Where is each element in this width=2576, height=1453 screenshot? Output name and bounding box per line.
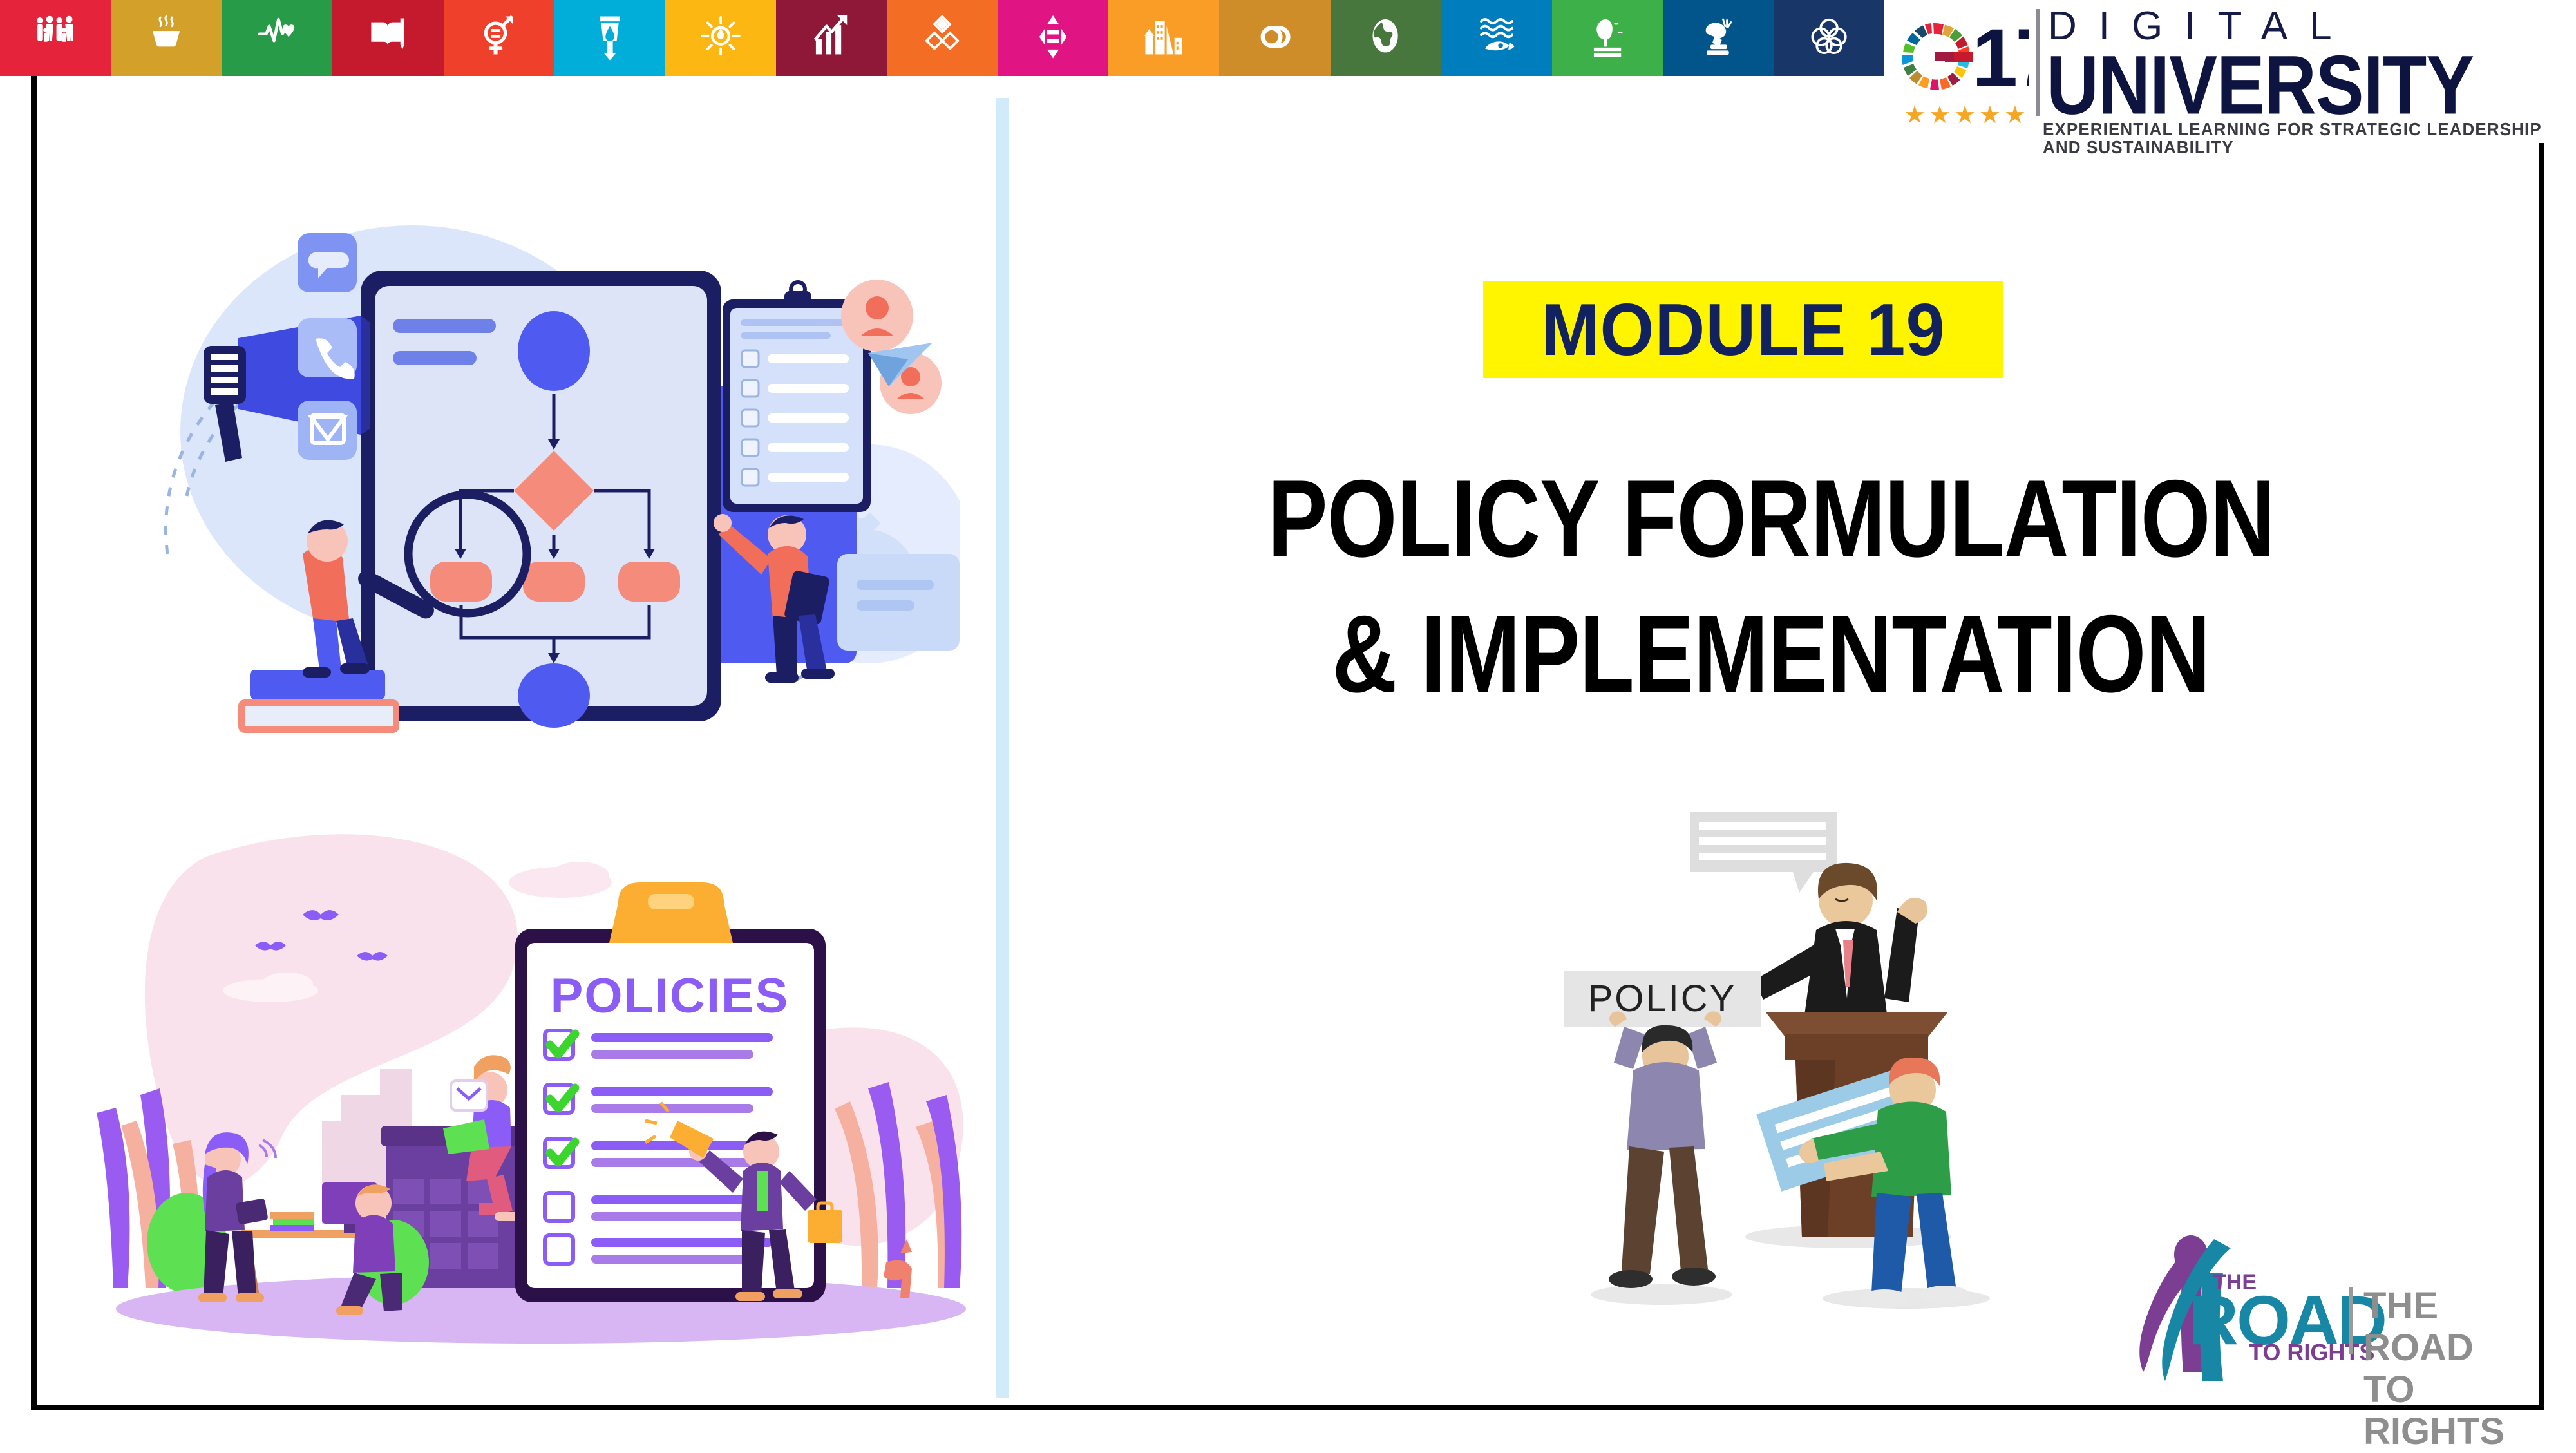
brand-name-university: UNIVERSITY: [2047, 44, 2474, 128]
partnership-circles-icon: [1794, 14, 1864, 62]
sdg-wheel-17-icon: 17: [1900, 5, 2029, 108]
logo-divider: [2036, 9, 2040, 116]
road-to-rights-logo: THE ROAD TO RIGHTS THE ROAD TO RIGHTS: [2106, 1224, 2524, 1385]
star-icon: ★: [1929, 103, 1951, 128]
five-stars-rating: ★ ★ ★ ★ ★: [1904, 103, 2026, 128]
policies-checklist-illustration: POLICIES: [90, 818, 985, 1353]
sdg-goal-14: [1441, 0, 1552, 76]
sdg-goal-1: [0, 0, 111, 76]
module-badge-label: MODULE 19: [1541, 293, 1945, 366]
cubes-industry-icon: [907, 14, 978, 62]
water-glass-arrow-icon: [574, 14, 645, 62]
module-badge: MODULE 19: [1483, 281, 2003, 378]
steaming-bowl-icon: [131, 14, 202, 62]
rtr-to-rights-label: TO RIGHTS: [2249, 1341, 2374, 1364]
dove-gavel-icon: [1683, 14, 1754, 62]
page-title-line-1: POLICY FORMULATION: [1005, 464, 2537, 574]
sdg-goal-15: [1552, 0, 1663, 76]
sdg-goal-7: [665, 0, 776, 76]
sdg-goal-6: [554, 0, 665, 76]
brand-tagline: EXPERIENTIAL LEARNING FOR STRATEGIC LEAD…: [2043, 120, 2575, 156]
policy-flowchart-illustration: [109, 193, 960, 760]
svg-text:17: 17: [1972, 12, 2029, 104]
sdg-goal-13: [1331, 0, 1441, 76]
digital-university-logo: 17 ★ ★ ★ ★ ★ DIGITAL UNIVERSITY EXPERIEN…: [1893, 1, 2575, 138]
equality-arrows-icon: [1018, 14, 1088, 62]
sdg-goal-10: [998, 0, 1108, 76]
policy-speaker-illustration: POLICY: [1533, 786, 2009, 1340]
sdg-goal-8: [776, 0, 887, 76]
rtr-wordmark-line1: THE ROAD: [2363, 1286, 2524, 1369]
svg-text:POLICIES: POLICIES: [551, 969, 790, 1023]
sdg-goal-3: [222, 0, 332, 76]
slide-border-right: [2539, 143, 2544, 1410]
tree-birds-icon: [1572, 14, 1643, 62]
rtr-wordmark: THE ROAD TO RIGHTS: [2363, 1286, 2524, 1453]
globe-eye-icon: [1350, 14, 1421, 62]
slide-border-left: [31, 76, 37, 1410]
sun-energy-icon: [685, 14, 756, 62]
heartbeat-icon: [241, 14, 312, 62]
column-divider: [996, 98, 1009, 1398]
open-book-pencil-icon: [352, 14, 423, 62]
star-icon: ★: [1954, 103, 1976, 128]
rtr-logo-divider: [2349, 1287, 2353, 1354]
star-icon: ★: [1904, 103, 1926, 128]
sdg-goal-17: [1774, 0, 1884, 76]
growth-chart-icon: [796, 14, 867, 62]
sdg-goal-11: [1108, 0, 1219, 76]
fish-waves-icon: [1461, 14, 1532, 62]
slide-border-bottom: [31, 1405, 2544, 1410]
rtr-wordmark-line2: TO RIGHTS: [2363, 1369, 2524, 1453]
people-family-icon: [20, 14, 91, 62]
star-icon: ★: [2004, 103, 2026, 128]
sdg-goal-9: [887, 0, 998, 76]
infinity-loop-icon: [1239, 14, 1310, 62]
gender-equality-icon: [463, 14, 534, 62]
page-title-line-2: & IMPLEMENTATION: [1005, 599, 2537, 709]
sdg-goals-bar: [0, 0, 1884, 76]
sdg-goal-2: [111, 0, 222, 76]
sdg-goal-16: [1663, 0, 1774, 76]
sdg-goal-4: [332, 0, 443, 76]
sdg-goal-5: [444, 0, 554, 76]
city-buildings-icon: [1128, 14, 1199, 62]
sdg-goal-12: [1219, 0, 1330, 76]
star-icon: ★: [1979, 103, 2001, 128]
